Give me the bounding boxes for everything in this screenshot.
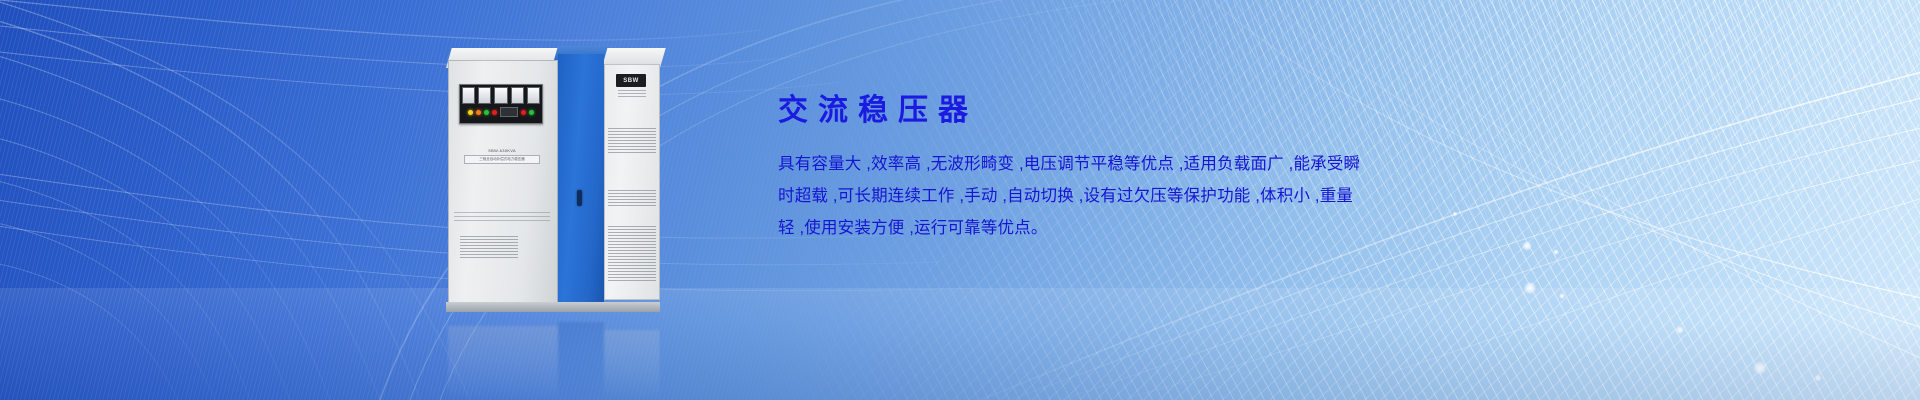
page-title: 交流稳压器 — [778, 96, 1438, 126]
indicator-lamp-red — [521, 110, 526, 115]
brand-logo-badge: SBW — [616, 74, 646, 87]
product-image-voltage-stabilizer: SBW-630KVA 三相全自动补偿式电力稳压器 SBW — [430, 40, 660, 315]
nameplate-model: SBW-630KVA — [464, 148, 540, 153]
meter-gauge — [527, 87, 540, 104]
cabinet-base-plinth — [446, 302, 660, 312]
ventilation-louvre — [608, 128, 656, 154]
indicator-lamp-orange — [476, 110, 481, 115]
indicator-lamp-green — [484, 110, 489, 115]
description-line: 时超载 ,可长期连续工作 ,手动 ,自动切换 ,设有过欠压等保护功能 ,体积小 … — [778, 180, 1418, 212]
ventilation-louvre — [608, 226, 656, 282]
meter-gauge — [478, 87, 491, 104]
indicator-lamp-yellow — [468, 110, 473, 115]
ventilation-louvre — [608, 190, 656, 208]
banner-copy: 交流稳压器 具有容量大 ,效率高 ,无波形畸变 ,电压调节平稳等优点 ,适用负载… — [778, 96, 1438, 245]
cabinet-door-blue — [558, 54, 604, 310]
indicator-lamp-green — [529, 110, 534, 115]
description-line: 具有容量大 ,效率高 ,无波形畸变 ,电压调节平稳等优点 ,适用负载面广 ,能承… — [778, 148, 1418, 180]
cabinet-door-handle — [577, 190, 582, 206]
panel-selector-knob — [500, 107, 518, 117]
panel-meters — [462, 87, 540, 104]
meter-gauge — [462, 87, 475, 104]
product-nameplate: SBW-630KVA 三相全自动补偿式电力稳压器 — [464, 148, 540, 164]
control-panel — [459, 84, 543, 124]
product-description: 具有容量大 ,效率高 ,无波形畸变 ,电压调节平稳等优点 ,适用负载面广 ,能承… — [778, 148, 1418, 245]
product-hero-banner: SBW-630KVA 三相全自动补偿式电力稳压器 SBW 交流稳压器 具有容量大… — [0, 0, 1920, 400]
background-glint-dots — [1453, 212, 1822, 382]
meter-gauge — [511, 87, 524, 104]
panel-indicator-lamps — [462, 107, 540, 117]
ventilation-louvre — [460, 236, 518, 258]
indicator-lamp-red — [492, 110, 497, 115]
description-line: 轻 ,使用安装方便 ,运行可靠等优点。 — [778, 212, 1418, 244]
meter-gauge — [494, 87, 507, 104]
brand-logo-text: SBW — [623, 78, 639, 84]
nameplate-subtitle: 三相全自动补偿式电力稳压器 — [464, 155, 540, 164]
side-logo-caption — [618, 90, 646, 98]
